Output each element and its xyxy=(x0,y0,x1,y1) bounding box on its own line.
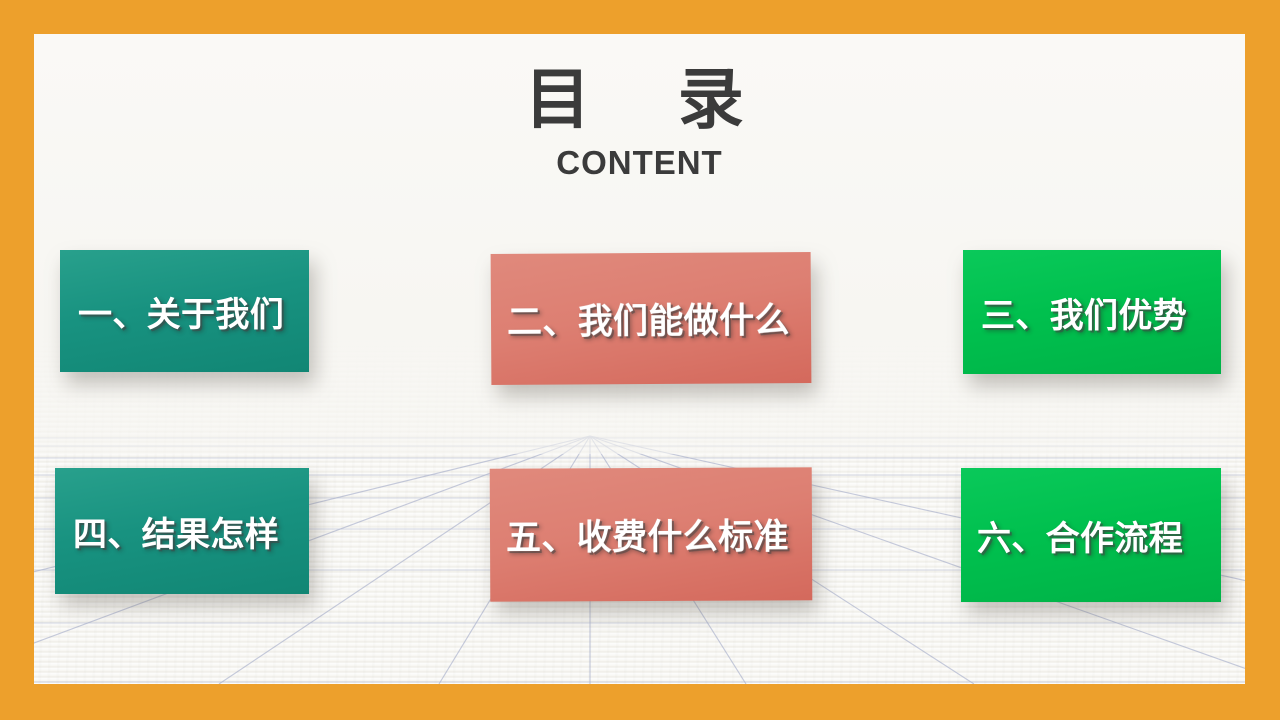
slide-content-panel: 目 录 CONTENT 一、关于我们 二、我们能做什么 三、我们优势 四、结果怎… xyxy=(34,34,1245,684)
slide-root: 目 录 CONTENT 一、关于我们 二、我们能做什么 三、我们优势 四、结果怎… xyxy=(0,0,1280,720)
agenda-item-3[interactable]: 三、我们优势 xyxy=(963,250,1221,374)
agenda-item-label: 四、结果怎样 xyxy=(73,507,279,556)
agenda-item-2[interactable]: 二、我们能做什么 xyxy=(491,252,812,385)
agenda-item-label: 六、合作流程 xyxy=(977,511,1183,560)
agenda-item-1[interactable]: 一、关于我们 xyxy=(60,250,309,372)
agenda-item-4[interactable]: 四、结果怎样 xyxy=(55,468,309,594)
slide-heading: 目 录 CONTENT xyxy=(34,34,1245,179)
page-title: 目 录 xyxy=(34,34,1245,132)
agenda-item-label: 一、关于我们 xyxy=(78,287,284,336)
page-subtitle: CONTENT xyxy=(34,132,1245,179)
agenda-item-label: 二、我们能做什么 xyxy=(507,292,790,345)
agenda-item-label: 三、我们优势 xyxy=(981,288,1187,337)
agenda-item-5[interactable]: 五、收费什么标准 xyxy=(490,467,813,601)
agenda-item-6[interactable]: 六、合作流程 xyxy=(961,468,1221,602)
agenda-item-label: 五、收费什么标准 xyxy=(506,508,789,560)
